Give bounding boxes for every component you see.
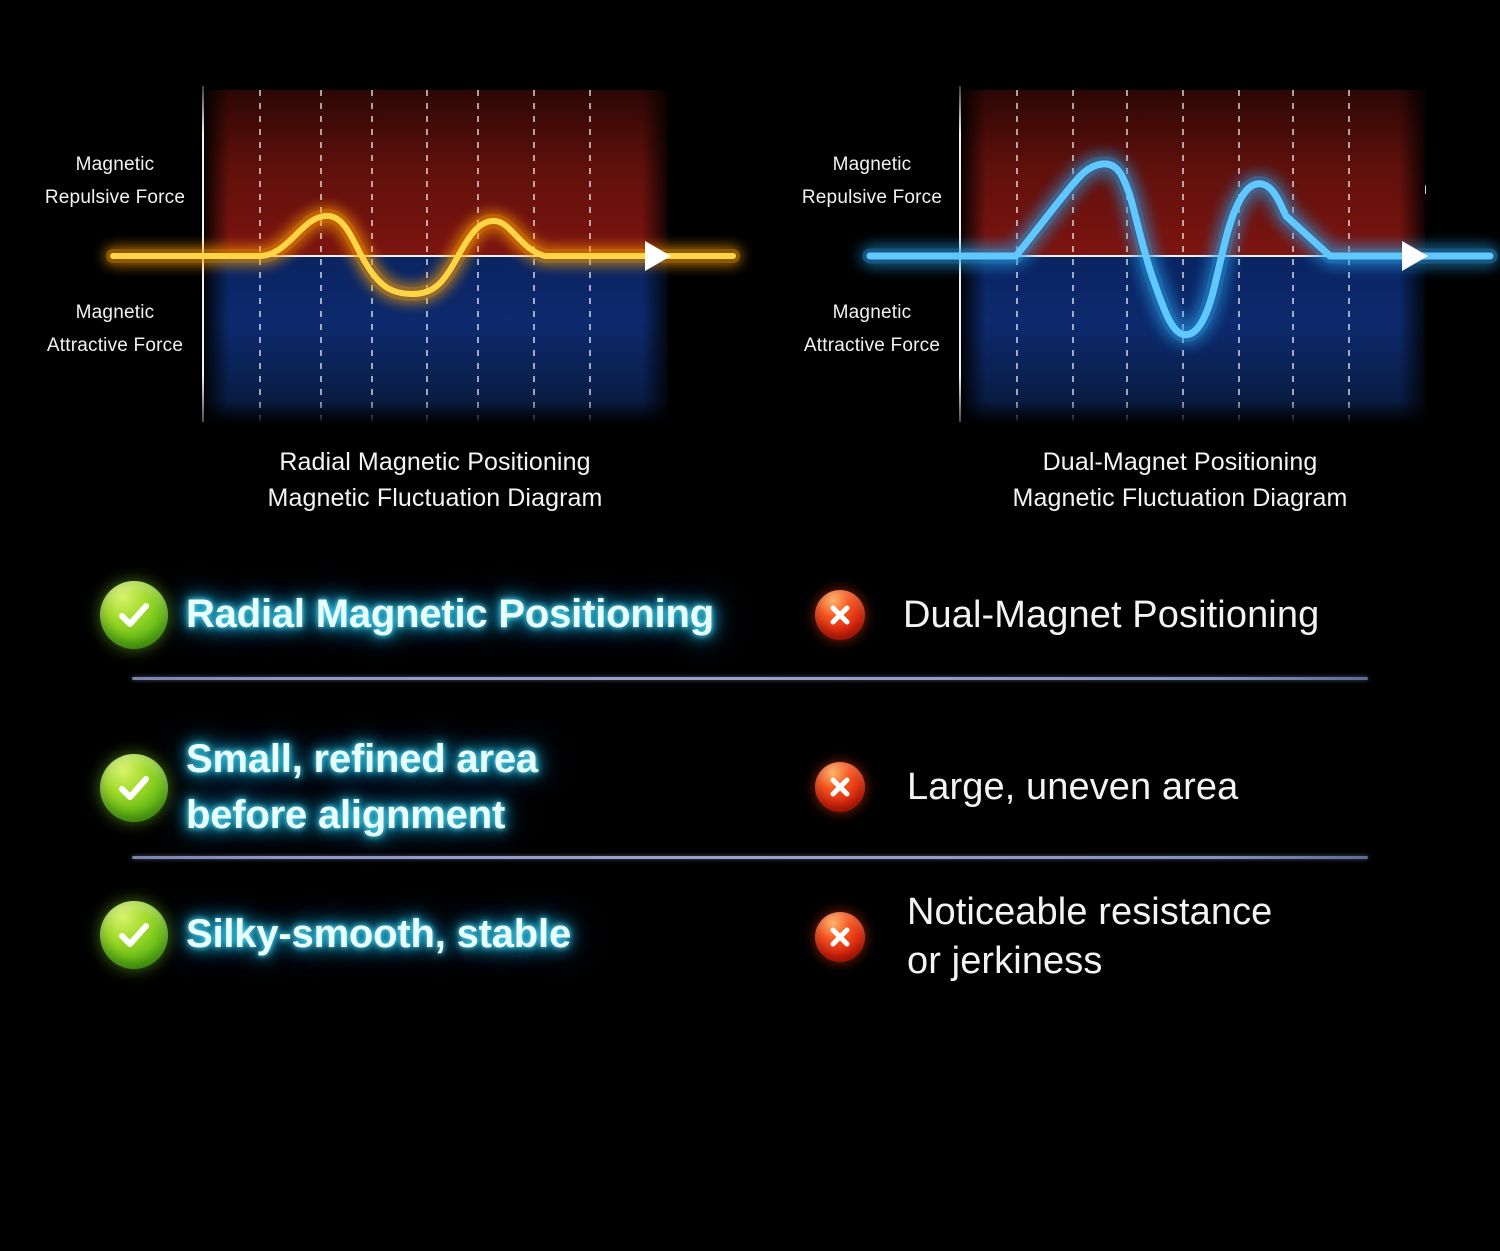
check-circle-icon: [100, 901, 168, 969]
comparison-label-advantage: Silky-smooth, stable: [186, 907, 571, 962]
caption-line: Dual-Magnet Positioning: [850, 445, 1500, 481]
comparison-label-drawback: Noticeable resistance or jerkiness: [907, 888, 1272, 985]
comparison-label-advantage: Small, refined area before alignment: [186, 732, 538, 842]
curve-glow: [870, 164, 1490, 335]
caption-line: Radial Magnetic Positioning: [130, 445, 740, 481]
check-circle-icon: [100, 581, 168, 649]
plot-area-dual-magnet: [960, 90, 1425, 422]
comparison-row: Radial Magnetic Positioning Dual-Magnet …: [0, 565, 1500, 665]
comparison-label-advantage: Radial Magnetic Positioning: [186, 587, 714, 642]
rotation-direction-arrow-icon: [645, 241, 671, 271]
cross-circle-icon: [815, 590, 865, 640]
comparison-cell-advantage: Small, refined area before alignment: [100, 715, 800, 860]
diagram-caption-dual-magnet: Dual-Magnet Positioning Magnetic Fluctua…: [850, 445, 1500, 516]
comparison-label-drawback: Dual-Magnet Positioning: [903, 591, 1319, 640]
row-divider: [132, 677, 1368, 680]
cross-circle-icon: [815, 762, 865, 812]
comparison-cell-advantage: Radial Magnetic Positioning: [100, 573, 800, 657]
rotation-direction-arrow-icon: [1402, 241, 1428, 271]
caption-line: Magnetic Fluctuation Diagram: [130, 481, 740, 517]
comparison-cell-drawback: Noticeable resistance or jerkiness: [815, 877, 1465, 997]
comparison-row: Small, refined area before alignment Lar…: [0, 715, 1500, 870]
comparison-cell-advantage: Silky-smooth, stable: [100, 885, 800, 985]
cross-circle-icon: [815, 912, 865, 962]
check-circle-icon: [100, 754, 168, 822]
magnetic-force-curve-radial: [113, 90, 733, 422]
comparison-label-drawback: Large, uneven area: [907, 763, 1238, 812]
diagram-caption-radial: Radial Magnetic Positioning Magnetic Flu…: [130, 445, 740, 516]
caption-line: Magnetic Fluctuation Diagram: [850, 481, 1500, 517]
curve-line: [113, 216, 733, 294]
comparison-row: Silky-smooth, stable Noticeable resistan…: [0, 885, 1500, 995]
comparison-cell-drawback: Dual-Magnet Positioning: [815, 573, 1465, 657]
magnetic-force-curve-dual-magnet: [870, 90, 1490, 422]
plot-area-radial: [203, 90, 668, 422]
row-divider: [132, 856, 1368, 859]
comparison-cell-drawback: Large, uneven area: [815, 737, 1465, 837]
comparison-list: Radial Magnetic Positioning Dual-Magnet …: [0, 565, 1500, 1015]
